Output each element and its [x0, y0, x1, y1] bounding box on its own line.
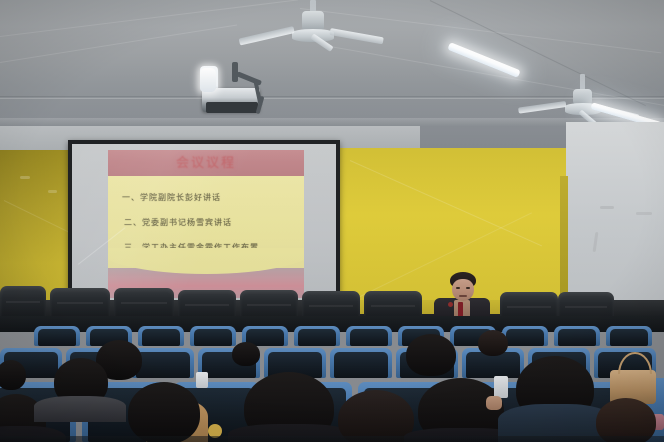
- audience-head-foreground: [128, 382, 200, 442]
- audience-seat-inner: [298, 329, 336, 346]
- presentation-slide: 会议议程 一、学院副院长彭好讲话 二、党委副书记杨雪宾讲话 三、学工办主任雷金霜…: [108, 150, 304, 298]
- audience-seat-inner: [142, 329, 180, 346]
- audience-seat-inner: [136, 352, 190, 378]
- fan-blade: [329, 28, 383, 44]
- photo-scene: 会议议程 一、学院副院长彭好讲话 二、党委副书记杨雪宾讲话 三、学工办主任雷金霜…: [0, 0, 664, 442]
- audience-seat-inner: [506, 329, 544, 346]
- projection-screen-surface: 会议议程 一、学院副院长彭好讲话 二、党委副书记杨雪宾讲话 三、学工办主任雷金霜…: [72, 144, 336, 302]
- speaker-mouth: [459, 295, 467, 297]
- hand: [486, 396, 502, 410]
- audience-seat-inner: [350, 329, 388, 346]
- wall-mark: [636, 212, 652, 215]
- audience-head: [406, 334, 456, 376]
- audience-seat-inner: [38, 329, 76, 346]
- audience-head-foreground: [0, 360, 26, 390]
- speaker-microphone: [448, 302, 453, 307]
- wall-mark: [600, 206, 614, 209]
- slide-bullet-2: 二、党委副书记杨雪宾讲话: [124, 218, 232, 228]
- audience-seat-inner: [334, 352, 388, 378]
- audience-seat-inner: [194, 329, 232, 346]
- speaker-eye: [456, 287, 460, 289]
- audience-head: [478, 330, 508, 356]
- fan-motor: [302, 11, 324, 31]
- audience-seat-inner: [558, 329, 596, 346]
- mobile-phone: [196, 372, 208, 388]
- wall-mark: [48, 190, 57, 193]
- ceiling-projector: [196, 62, 286, 122]
- mobile-phone: [494, 376, 508, 398]
- projector-lens: [200, 68, 216, 92]
- speaker-eye: [466, 287, 470, 289]
- audience-head: [232, 342, 260, 366]
- fan-rod: [580, 74, 585, 90]
- slide-title: 会议议程: [108, 155, 304, 171]
- slide-bullet-1: 一、学院副院长彭好讲话: [122, 193, 221, 203]
- foreground-shadow: [0, 436, 664, 442]
- audience-shoulders: [34, 396, 126, 422]
- ceiling-fan-left: [258, 0, 378, 54]
- audience-seat-inner: [610, 329, 648, 346]
- audience-head-foreground: [338, 390, 414, 442]
- projector-shadow: [206, 102, 258, 113]
- speaker-face: [452, 279, 474, 301]
- wall-mark: [20, 176, 30, 179]
